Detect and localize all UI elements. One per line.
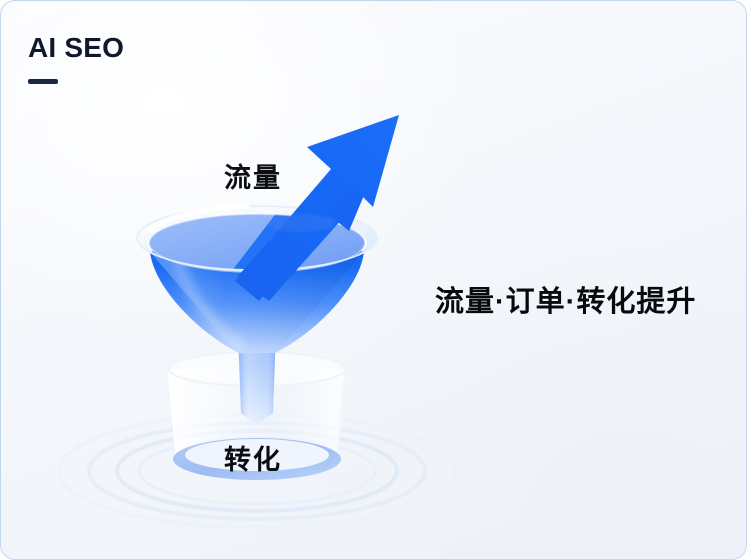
funnel-label-traffic: 流量: [224, 156, 282, 195]
funnel-stem: [238, 331, 276, 425]
slide-canvas: AI SEO 流量 转化 流量·订单·转化提升: [0, 0, 747, 560]
title-underline-rule: [28, 79, 58, 84]
growth-arrow: [237, 116, 398, 301]
growth-arrow-shape: [235, 115, 399, 301]
tagline-text: 流量·订单·转化提升: [435, 278, 696, 320]
funnel-bowl-interior: [149, 199, 365, 303]
funnel-rim: [137, 206, 377, 272]
funnel-label-conversion: 转化: [224, 438, 282, 477]
title-block: AI SEO: [28, 34, 124, 84]
funnel-cone: [150, 251, 364, 353]
page-title: AI SEO: [28, 34, 124, 62]
